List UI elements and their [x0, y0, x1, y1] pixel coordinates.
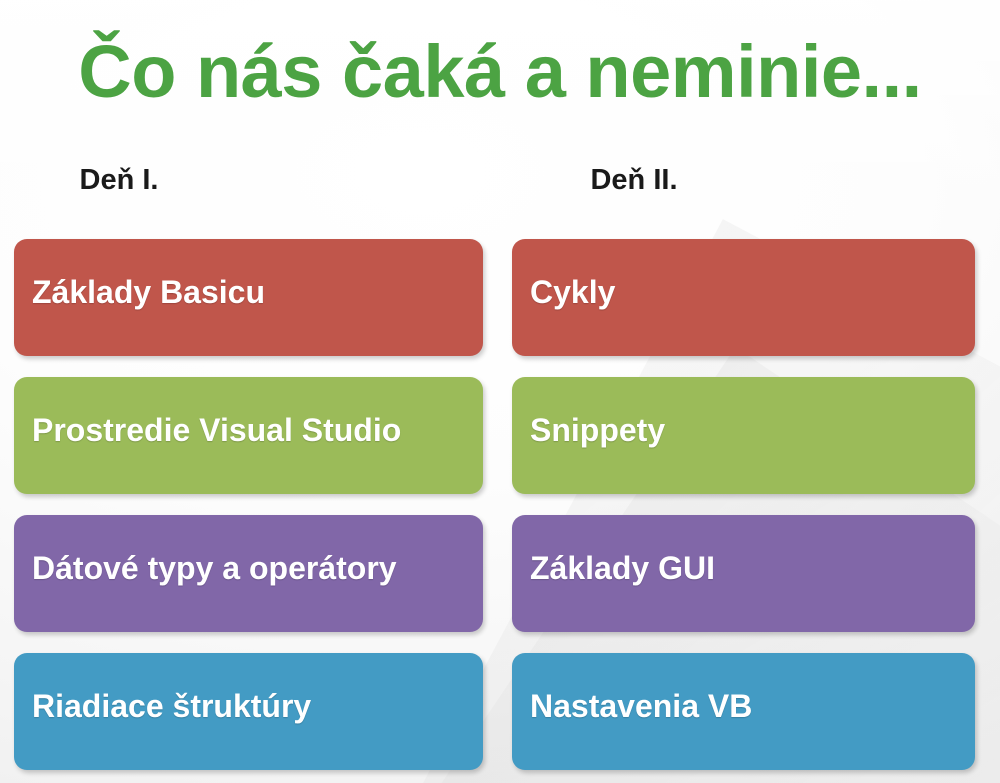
topic-box[interactable]: Základy Basicu [14, 239, 483, 356]
topic-column-day-2: Cykly Snippety Základy GUI Nastavenia VB [512, 239, 975, 770]
topic-box[interactable]: Cykly [512, 239, 975, 356]
slide-title: Čo nás čaká a neminie... [0, 34, 1000, 111]
column-header-day-2: Deň II. [500, 164, 1000, 197]
topic-box[interactable]: Nastavenia VB [512, 653, 975, 770]
topic-label: Snippety [530, 412, 665, 449]
column-headers: Deň I. Deň II. [0, 164, 1000, 197]
topic-label: Cykly [530, 274, 615, 311]
topic-box[interactable]: Dátové typy a operátory [14, 515, 483, 632]
topic-label: Prostredie Visual Studio [32, 412, 401, 449]
topic-box[interactable]: Prostredie Visual Studio [14, 377, 483, 494]
topic-box[interactable]: Riadiace štruktúry [14, 653, 483, 770]
topic-label: Dátové typy a operátory [32, 550, 397, 587]
topic-label: Riadiace štruktúry [32, 688, 311, 725]
topic-column-day-1: Základy Basicu Prostredie Visual Studio … [14, 239, 483, 770]
topic-box[interactable]: Snippety [512, 377, 975, 494]
topic-label: Základy Basicu [32, 274, 265, 311]
topic-label: Nastavenia VB [530, 688, 752, 725]
slide: Čo nás čaká a neminie... Deň I. Deň II. … [0, 0, 1000, 783]
column-header-day-1: Deň I. [0, 164, 500, 197]
topic-box[interactable]: Základy GUI [512, 515, 975, 632]
topic-label: Základy GUI [530, 550, 715, 587]
